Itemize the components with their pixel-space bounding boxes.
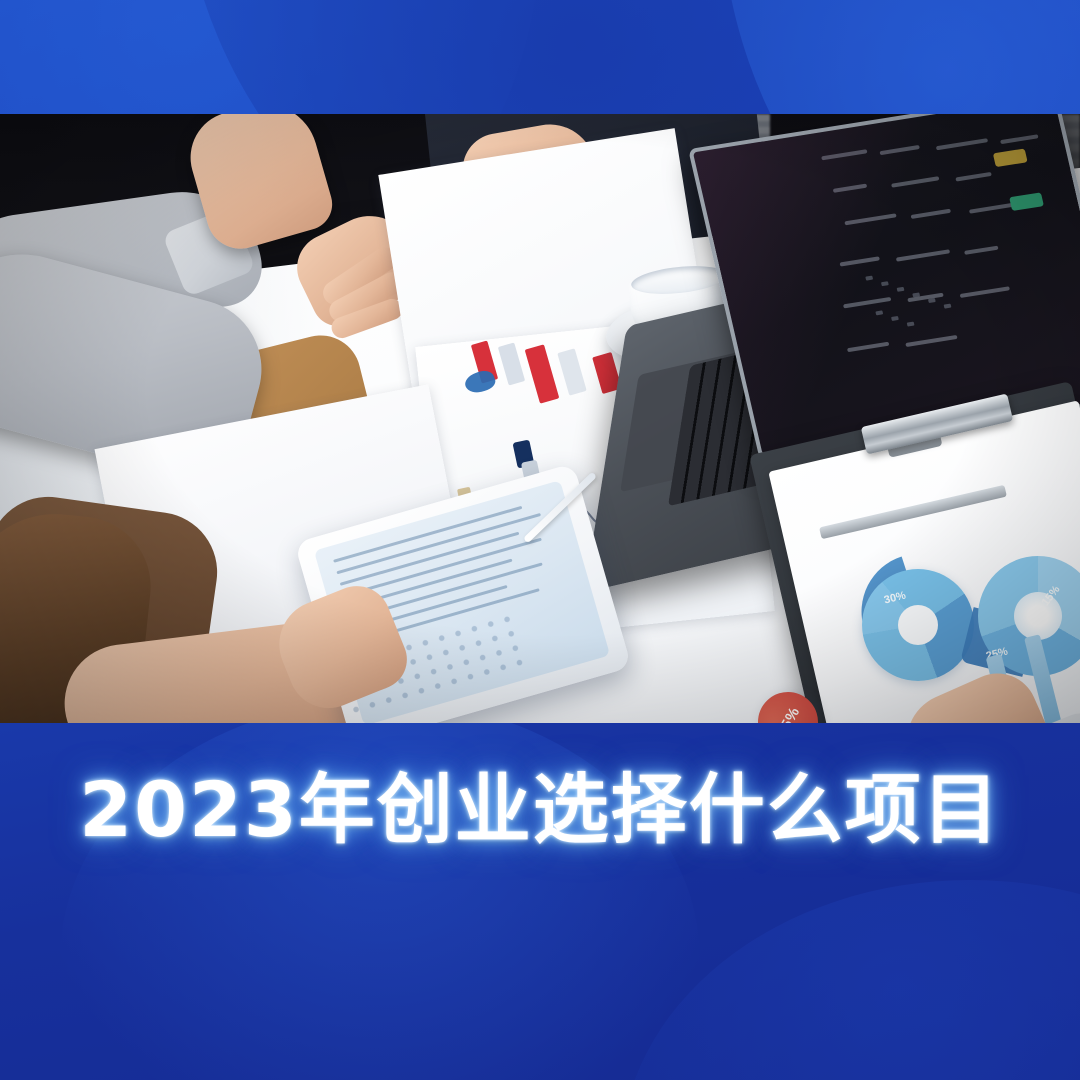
pie-chart-1-center [898,605,938,645]
title-container: 2023年创业选择什么项目 [0,769,1080,851]
thumbnail-canvas: 30% 15% 25% 75% 50% 25% [0,0,1080,1080]
laptop-badge-green [1009,192,1044,211]
page-title: 2023年创业选择什么项目 [79,769,1001,851]
laptop-badge-yellow [993,148,1028,167]
hero-photo: 30% 15% 25% 75% 50% 25% [0,114,1080,723]
